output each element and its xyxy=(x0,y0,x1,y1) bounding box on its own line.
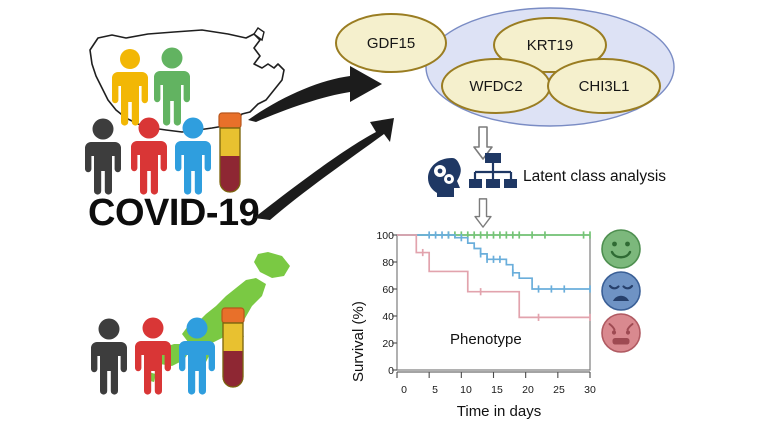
head-with-gears-icon xyxy=(424,154,468,198)
person-darkgray xyxy=(88,318,130,396)
survival-plot-area xyxy=(344,224,614,431)
person-red xyxy=(132,317,174,397)
person-blue xyxy=(172,117,214,197)
survival-chart: Survival (%) 100 80 60 40 20 0 0 5 10 15… xyxy=(344,224,614,431)
graphical-abstract: COVID-19 xyxy=(0,0,768,431)
blood-collection-tube xyxy=(212,112,248,198)
biomarker-ellipse-gdf15[interactable] xyxy=(334,12,448,74)
latent-class-analysis-label: Latent class analysis xyxy=(523,168,666,186)
person-darkgray xyxy=(82,118,124,196)
person-yellow xyxy=(110,48,150,126)
person-green xyxy=(152,47,192,127)
sad-face-blue xyxy=(600,270,642,312)
person-red xyxy=(128,117,170,197)
person-blue xyxy=(176,317,218,397)
page-title: COVID-19 xyxy=(88,192,259,235)
smiley-face-green xyxy=(600,228,642,270)
biomarker-ellipse-chi3l1[interactable] xyxy=(546,57,662,115)
biomarker-ellipse-wfdc2[interactable] xyxy=(440,57,552,115)
cohort-to-biomarkers-arrow-bottom xyxy=(250,108,396,220)
distressed-face-red xyxy=(600,312,642,354)
blood-collection-tube xyxy=(215,307,251,393)
hierarchy-tree-icon xyxy=(468,152,518,194)
